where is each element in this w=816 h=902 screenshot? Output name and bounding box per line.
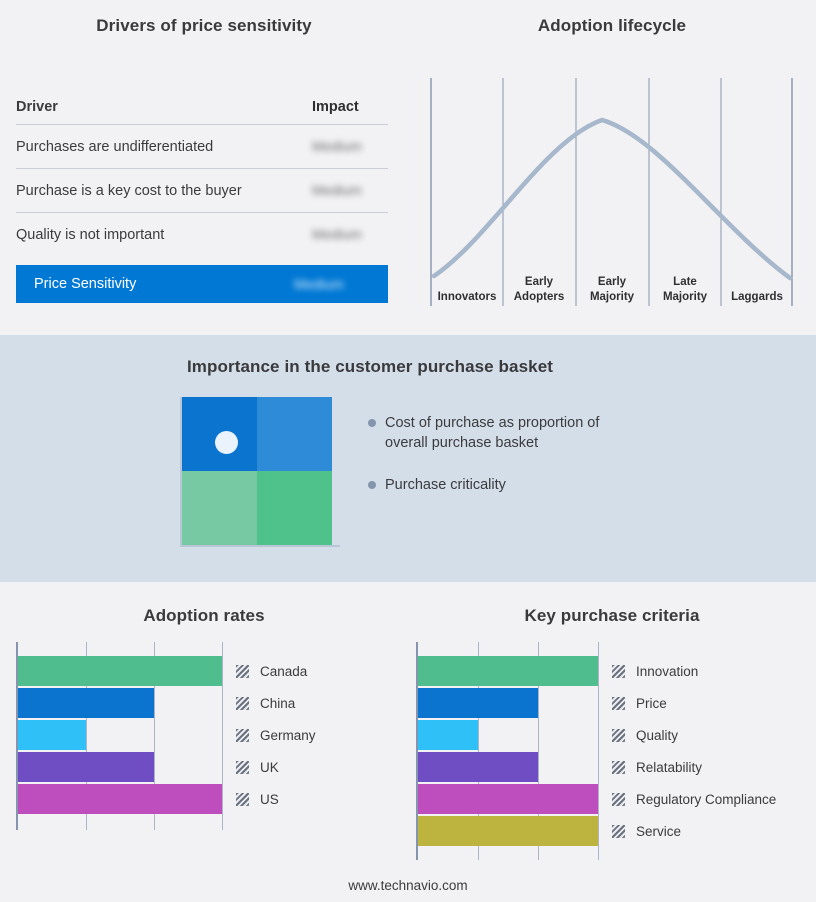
bar-quality[interactable] (418, 720, 478, 750)
key-purchase-criteria-legend: InnovationPriceQualityRelatabilityRegula… (612, 642, 776, 860)
legend-item[interactable]: Purchase criticality (368, 475, 668, 495)
legend-item[interactable]: Cost of purchase as proportion of overal… (368, 413, 668, 453)
legend-item[interactable]: Quality (612, 720, 776, 750)
bar-row (18, 752, 222, 782)
summary-row-impact: Medium (294, 276, 370, 293)
gridline (598, 642, 599, 860)
column-header-driver: Driver (16, 99, 312, 115)
legend-item[interactable]: Relatability (612, 752, 776, 782)
bar-row (18, 656, 222, 686)
adoption-lifecycle-panel: Adoption lifecycle Innovators Early Adop… (408, 0, 816, 335)
redacted-impact-value: Medium (312, 138, 362, 154)
legend-swatch-icon (236, 665, 249, 678)
legend-item[interactable]: UK (236, 752, 316, 782)
bar-innovation[interactable] (418, 656, 598, 686)
stage-label-laggards-line1: Laggards (731, 291, 783, 303)
driver-name: Purchases are undifferentiated (16, 139, 312, 155)
legend-item[interactable]: US (236, 784, 316, 814)
adoption-rates-chart: CanadaChinaGermanyUKUS (16, 642, 316, 830)
stage-label-early-majority-line1: Early (598, 276, 627, 288)
redacted-impact-value: Medium (312, 182, 362, 198)
lifecycle-svg: Innovators Early Adopters Early Majority… (430, 78, 794, 313)
legend-item[interactable]: Innovation (612, 656, 776, 686)
legend-item-label: Germany (260, 728, 316, 743)
quadrant-baseline-axis (180, 545, 340, 547)
legend-item[interactable]: Germany (236, 720, 316, 750)
bar-row (418, 688, 598, 718)
gridline (222, 642, 223, 830)
legend-item-label: US (260, 792, 279, 807)
legend-swatch-icon (612, 665, 625, 678)
bar-row (418, 784, 598, 814)
legend-swatch-icon (612, 761, 625, 774)
legend-item-label: Service (636, 824, 681, 839)
bar-regulatory-compliance[interactable] (418, 784, 598, 814)
legend-swatch-icon (236, 729, 249, 742)
adoption-rates-legend: CanadaChinaGermanyUKUS (236, 642, 316, 830)
legend-item-label: China (260, 696, 295, 711)
legend-swatch-icon (612, 697, 625, 710)
stage-label-late-majority-line1: Late (673, 276, 697, 288)
bar-group (18, 656, 222, 814)
bar-row (418, 720, 598, 750)
summary-row-label: Price Sensitivity (34, 276, 294, 292)
legend-item-label: Innovation (636, 664, 698, 679)
footer-url[interactable]: www.technavio.com (0, 878, 816, 893)
importance-legend: Cost of purchase as proportion of overal… (368, 413, 668, 517)
bar-row (18, 784, 222, 814)
table-row[interactable]: Purchases are undifferentiated Medium (16, 125, 388, 168)
bar-service[interactable] (418, 816, 598, 846)
bar-row (18, 688, 222, 718)
price-sensitivity-summary-row[interactable]: Price Sensitivity Medium (16, 265, 388, 303)
legend-item[interactable]: Canada (236, 656, 316, 686)
quadrant-matrix (180, 397, 340, 547)
bar-group (418, 656, 598, 846)
bar-row (418, 752, 598, 782)
legend-swatch-icon (236, 761, 249, 774)
driver-name: Quality is not important (16, 227, 312, 243)
table-row[interactable]: Purchase is a key cost to the buyer Medi… (16, 169, 388, 212)
stage-label-late-majority-line2: Majority (663, 291, 708, 303)
legend-swatch-icon (612, 729, 625, 742)
redacted-impact-value: Medium (294, 276, 344, 292)
key-purchase-criteria-chart: InnovationPriceQualityRelatabilityRegula… (416, 642, 776, 860)
quadrant-bottom-left[interactable] (182, 471, 257, 545)
adoption-rates-panel: Adoption rates CanadaChinaGermanyUKUS (0, 582, 408, 902)
legend-item[interactable]: Service (612, 816, 776, 846)
legend-swatch-icon (236, 793, 249, 806)
lifecycle-gridlines (431, 78, 792, 306)
redacted-impact-value: Medium (312, 226, 362, 242)
importance-panel: Importance in the customer purchase bask… (0, 335, 816, 582)
legend-item[interactable]: China (236, 688, 316, 718)
bar-relatability[interactable] (418, 752, 538, 782)
bar-us[interactable] (18, 784, 222, 814)
quadrant-bottom-right[interactable] (257, 471, 332, 545)
bar-uk[interactable] (18, 752, 154, 782)
stage-label-early-adopters-line1: Early (525, 276, 554, 288)
stage-label-early-majority-line2: Majority (590, 291, 635, 303)
drivers-panel-title: Drivers of price sensitivity (0, 16, 408, 36)
drivers-table: Driver Impact Purchases are undifferenti… (16, 90, 388, 303)
bar-row (418, 816, 598, 846)
legend-item-label: Canada (260, 664, 307, 679)
table-header-row: Driver Impact (16, 90, 388, 124)
stage-label-innovators-line1: Innovators (438, 291, 497, 303)
legend-item-label: Price (636, 696, 667, 711)
legend-bullet-icon (368, 419, 376, 427)
legend-swatch-icon (612, 793, 625, 806)
legend-item-label: Quality (636, 728, 678, 743)
legend-swatch-icon (612, 825, 625, 838)
key-purchase-criteria-title: Key purchase criteria (408, 606, 816, 626)
key-purchase-criteria-panel: Key purchase criteria InnovationPriceQua… (408, 582, 816, 902)
drivers-panel: Drivers of price sensitivity Driver Impa… (0, 0, 408, 335)
key-purchase-criteria-plot (416, 642, 598, 860)
lifecycle-stage-labels: Innovators Early Adopters Early Majority… (438, 276, 783, 303)
driver-impact: Medium (312, 226, 388, 243)
stage-label-early-adopters-line2: Adopters (514, 291, 564, 303)
driver-impact: Medium (312, 182, 388, 199)
adoption-rates-plot (16, 642, 222, 830)
importance-panel-title: Importance in the customer purchase bask… (0, 357, 740, 377)
bell-curve-path (434, 120, 790, 278)
quadrant-top-right[interactable] (257, 397, 332, 471)
bar-row (418, 656, 598, 686)
bar-china[interactable] (18, 688, 154, 718)
legend-swatch-icon (236, 697, 249, 710)
legend-item-label: UK (260, 760, 279, 775)
lifecycle-panel-title: Adoption lifecycle (408, 16, 816, 36)
legend-item[interactable]: Price (612, 688, 776, 718)
legend-item-label: Regulatory Compliance (636, 792, 776, 807)
legend-bullet-icon (368, 481, 376, 489)
legend-item[interactable]: Regulatory Compliance (612, 784, 776, 814)
position-marker-dot (215, 431, 238, 454)
legend-item-label: Purchase criticality (385, 475, 506, 495)
driver-impact: Medium (312, 138, 388, 155)
column-header-impact: Impact (312, 99, 388, 115)
bar-canada[interactable] (18, 656, 222, 686)
lifecycle-bell-curve-chart: Innovators Early Adopters Early Majority… (430, 78, 794, 313)
legend-item-label: Cost of purchase as proportion of overal… (385, 413, 645, 453)
quadrant-box (180, 397, 332, 545)
adoption-rates-title: Adoption rates (0, 606, 408, 626)
driver-name: Purchase is a key cost to the buyer (16, 183, 312, 199)
bar-germany[interactable] (18, 720, 86, 750)
bar-price[interactable] (418, 688, 538, 718)
bar-row (18, 720, 222, 750)
table-row[interactable]: Quality is not important Medium (16, 213, 388, 256)
legend-item-label: Relatability (636, 760, 702, 775)
